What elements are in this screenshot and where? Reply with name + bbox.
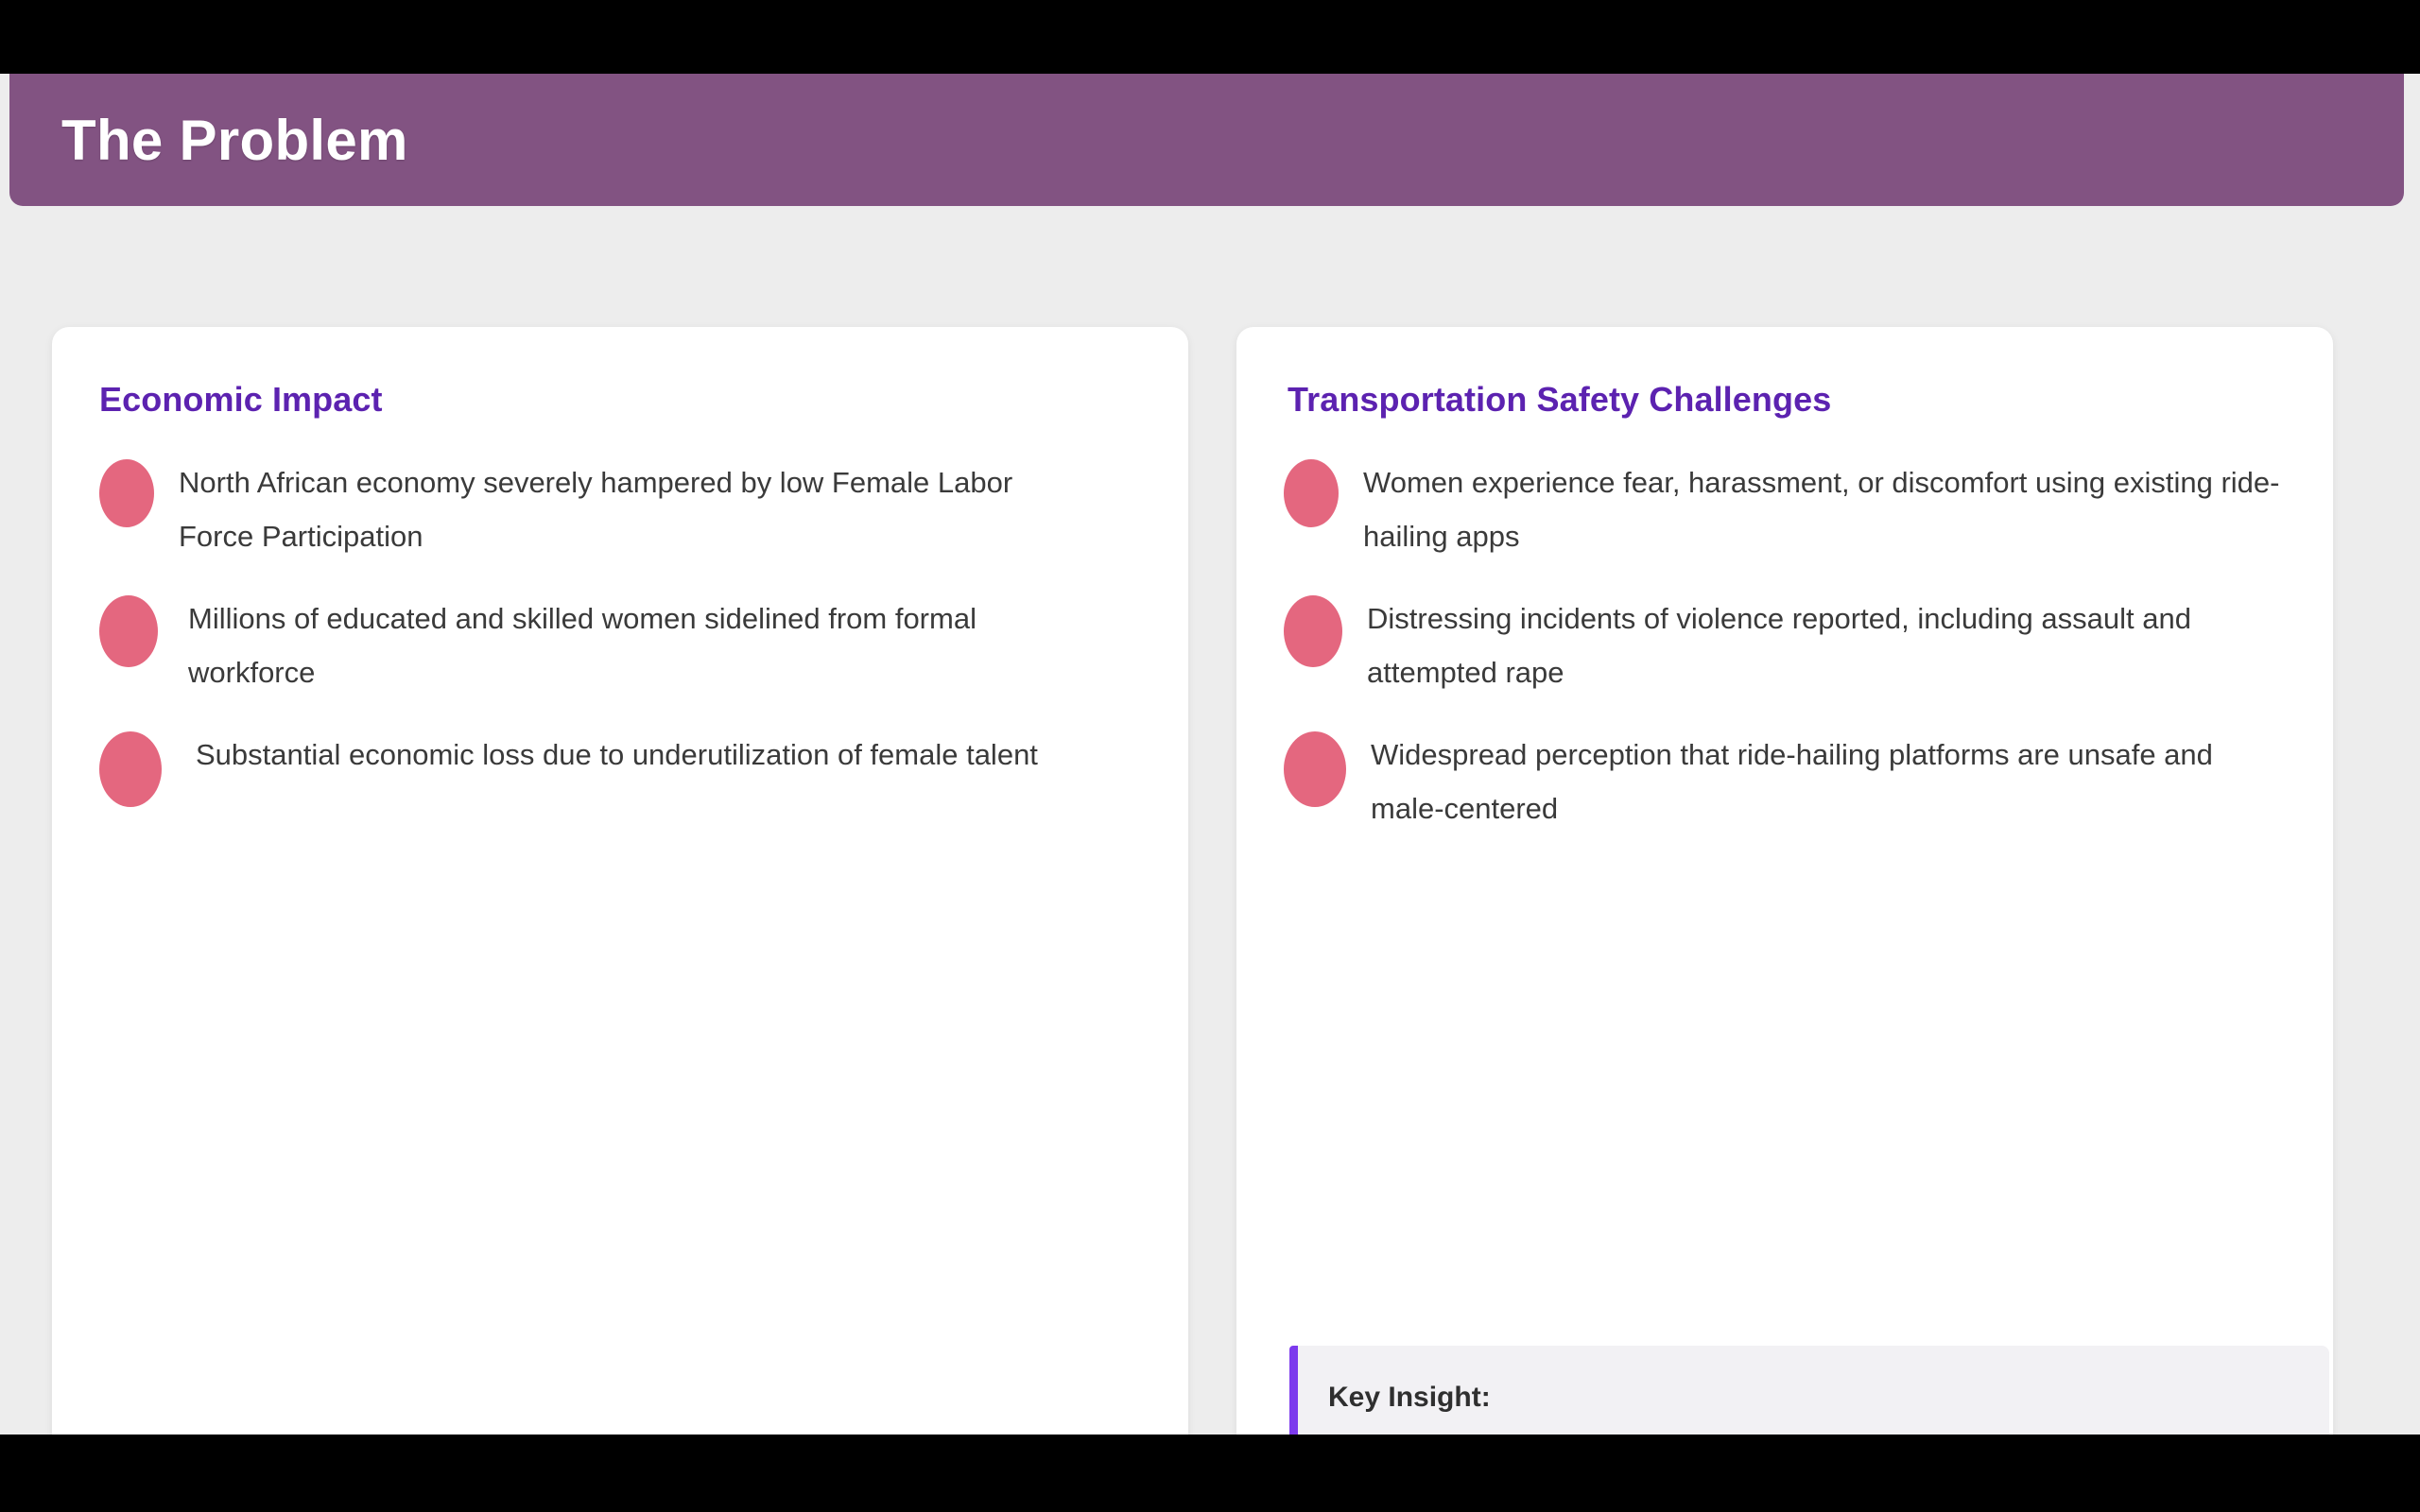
slide-title-bar: The Problem [9,74,2404,206]
list-item-label: Substantial economic loss due to underut… [186,728,1038,782]
presentation-screen: The Problem Economic Impact North Africa… [0,0,2420,1512]
bullet-dot-icon [1284,459,1339,527]
bullet-dot-icon [99,595,158,667]
bullet-dot-icon [1284,595,1342,667]
list-item-label: Distressing incidents of violence report… [1367,592,2286,699]
slide: The Problem Economic Impact North Africa… [0,74,2420,1435]
card-title-transportation-safety-challenges: Transportation Safety Challenges [1288,380,2286,420]
list-item: Millions of educated and skilled women s… [99,592,1141,699]
list-item: Substantial economic loss due to underut… [99,728,1141,807]
bullet-list-economic-impact: North African economy severely hampered … [99,455,1141,807]
page-title: The Problem [61,108,408,173]
cards-container: Economic Impact North African economy se… [0,206,2420,1435]
key-insight-label: Key Insight: [1328,1382,2291,1414]
list-item-label: Millions of educated and skilled women s… [182,592,1090,699]
card-title-economic-impact: Economic Impact [99,380,1141,420]
bullet-dot-icon [99,459,154,527]
list-item: North African economy severely hampered … [99,455,1141,563]
list-item: Distressing incidents of violence report… [1284,592,2286,699]
bullet-dot-icon [1284,731,1346,807]
card-economic-impact: Economic Impact North African economy se… [52,327,1188,1435]
key-insight-callout: Key Insight: When women cannot travel sa… [1289,1346,2329,1435]
bullet-list-transportation-safety: Women experience fear, harassment, or di… [1284,455,2286,835]
list-item-label: North African economy severely hampered … [179,455,1086,563]
bullet-dot-icon [99,731,162,807]
card-transportation-safety-challenges: Transportation Safety Challenges Women e… [1236,327,2333,1435]
list-item: Widespread perception that ride-hailing … [1284,728,2286,835]
list-item-label: Women experience fear, harassment, or di… [1363,455,2286,563]
list-item: Women experience fear, harassment, or di… [1284,455,2286,563]
list-item-label: Widespread perception that ride-hailing … [1371,728,2286,835]
key-insight-body: When women cannot travel safely, they ca… [1328,1425,2291,1435]
